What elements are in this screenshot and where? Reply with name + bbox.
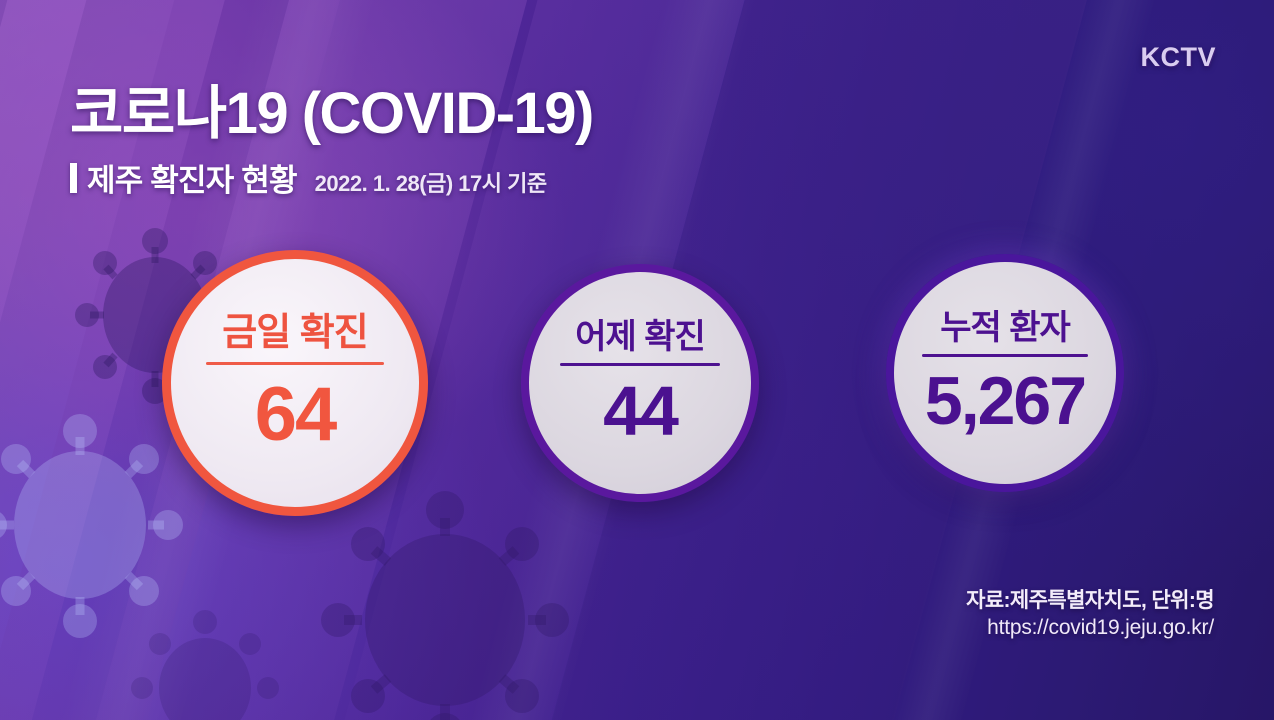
broadcast-graphic: 코로나19 (COVID-19) 제주 확진자 현황 2022. 1. 28(금… [0, 0, 1274, 720]
virus-particle-icon [0, 395, 200, 655]
source-url: https://covid19.jeju.go.kr/ [966, 615, 1214, 642]
source-organization: 자료:제주특별자치도, 단위:명 [966, 588, 1214, 615]
subtitle-row: 제주 확진자 현황 2022. 1. 28(금) 17시 기준 [70, 155, 593, 200]
stat-label-cumulative: 누적 환자 [940, 311, 1070, 345]
stat-label-today: 금일 확진 [222, 314, 367, 352]
header-block: 코로나19 (COVID-19) 제주 확진자 현황 2022. 1. 28(금… [70, 84, 593, 200]
stat-circle-cumulative: 누적 환자 5,267 [886, 254, 1124, 492]
stat-circle-yesterday: 어제 확진 44 [521, 264, 759, 502]
kctv-logo: KCTV [1141, 42, 1217, 73]
stat-value-cumulative: 5,267 [925, 367, 1085, 435]
page-title: 코로나19 (COVID-19) [70, 84, 593, 143]
stat-divider [922, 354, 1088, 357]
stat-divider [560, 363, 720, 366]
page-subtitle: 제주 확진자 현황 [87, 155, 297, 200]
virus-particle-icon [120, 600, 290, 720]
stat-divider [206, 362, 384, 365]
source-attribution: 자료:제주특별자치도, 단위:명 https://covid19.jeju.go… [966, 588, 1214, 642]
date-note: 2022. 1. 28(금) 17시 기준 [315, 166, 547, 198]
subtitle-accent-bar [70, 163, 77, 193]
stat-label-yesterday: 어제 확진 [575, 320, 705, 354]
virus-particle-icon [300, 470, 590, 720]
stat-value-today: 64 [255, 377, 336, 453]
stat-circle-today: 금일 확진 64 [162, 250, 428, 516]
stat-value-yesterday: 44 [603, 376, 677, 446]
